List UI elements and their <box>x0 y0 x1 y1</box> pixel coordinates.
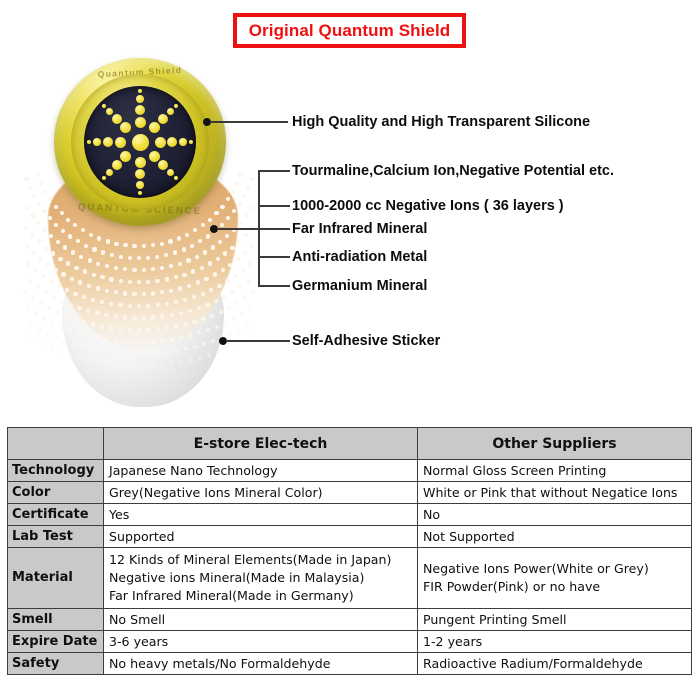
ion-dot <box>73 317 77 321</box>
ion-dot <box>193 345 197 349</box>
ion-dot <box>37 202 41 206</box>
star-arm-dot <box>158 114 168 124</box>
disc-face <box>84 86 196 198</box>
ion-dot <box>201 292 205 296</box>
ion-dot <box>86 358 90 362</box>
page-title: Original Quantum Shield <box>249 21 451 41</box>
ion-dot <box>128 328 132 332</box>
row-header-technology: Technology <box>8 460 104 482</box>
ion-dot <box>79 255 83 259</box>
ion-dot <box>238 221 242 225</box>
ion-dot <box>222 295 226 299</box>
ion-dot <box>58 350 62 354</box>
callout-leader-tourmaline <box>258 170 290 172</box>
callout-label-sticker: Self-Adhesive Sticker <box>292 334 440 349</box>
ion-dot <box>114 242 118 246</box>
star-arm-dot <box>103 137 113 147</box>
ion-dot <box>95 311 99 315</box>
ion-dot <box>41 274 45 278</box>
ion-dot <box>228 332 232 336</box>
ion-dot <box>61 229 65 233</box>
callout-label-negative-ions: 1000-2000 cc Negative Ions ( 36 layers ) <box>292 199 564 214</box>
ion-dot <box>160 290 164 294</box>
ion-dot <box>151 315 155 319</box>
star-arm-dot <box>106 169 114 177</box>
ion-dot <box>24 334 28 338</box>
ion-dot <box>76 239 80 243</box>
ion-dot <box>39 182 43 186</box>
star-arm-dot <box>135 169 145 179</box>
ion-dot <box>106 239 110 243</box>
ion-dot <box>225 279 229 283</box>
cell-other-smell: Pungent Printing Smell <box>418 608 692 630</box>
ion-dot <box>36 221 40 225</box>
ion-dot <box>132 268 136 272</box>
ion-dot <box>118 303 122 307</box>
ion-dot <box>51 321 55 325</box>
ion-dot <box>114 339 118 343</box>
table-row: Expire Date 3-6 years 1-2 years <box>8 630 692 652</box>
ion-dot <box>76 356 80 360</box>
ion-dot <box>23 291 27 295</box>
ion-dot <box>202 342 206 346</box>
ion-dot <box>160 242 164 246</box>
star-arm-dot <box>149 151 160 162</box>
ion-dot <box>71 250 75 254</box>
ion-dot <box>219 310 223 314</box>
ion-dot <box>192 320 196 324</box>
ion-dot <box>161 363 165 367</box>
ion-dot <box>68 234 72 238</box>
ion-dot <box>73 223 77 227</box>
star-arm-dot <box>189 140 194 145</box>
ion-dot <box>118 351 122 355</box>
ion-dot <box>207 353 211 357</box>
row-header-safety: Safety <box>8 652 104 674</box>
ion-dot <box>38 257 42 261</box>
ion-dot <box>114 290 118 294</box>
ion-dot <box>174 275 178 279</box>
ion-dot <box>105 289 109 293</box>
ion-dot <box>132 316 136 320</box>
ion-dot <box>251 291 255 295</box>
row-header-material: Material <box>8 548 104 609</box>
ion-dot <box>83 269 87 273</box>
ion-dot <box>146 304 150 308</box>
ion-dot <box>201 223 205 227</box>
ion-dot <box>50 347 54 351</box>
ion-dot <box>192 295 196 299</box>
ion-dot <box>88 258 92 262</box>
ion-dot <box>101 250 105 254</box>
ion-dot <box>237 328 241 332</box>
cell-estore-certificate: Yes <box>104 504 418 526</box>
star-arm-dot <box>120 151 131 162</box>
ion-dot <box>225 234 229 238</box>
ion-dot <box>119 279 123 283</box>
ion-dot <box>146 352 150 356</box>
ion-dot <box>60 299 64 303</box>
ion-dot <box>55 310 59 314</box>
ion-dot <box>95 336 99 340</box>
ion-dot <box>47 306 51 310</box>
ion-dot <box>246 186 250 190</box>
ion-dot <box>228 263 232 267</box>
star-arm-dot <box>138 89 143 94</box>
ion-dot <box>183 298 187 302</box>
ion-dot <box>25 206 29 210</box>
star-arm-dot <box>174 176 179 181</box>
ion-dot <box>92 273 96 277</box>
ion-dot <box>156 303 160 307</box>
table-row: Material 12 Kinds of Mineral Elements(Ma… <box>8 548 692 609</box>
ion-dot <box>72 342 76 346</box>
ion-dot <box>178 262 182 266</box>
ion-dot <box>123 243 127 247</box>
ion-dot <box>30 214 34 218</box>
column-header-other: Other Suppliers <box>418 428 692 460</box>
ion-dot <box>31 296 35 300</box>
ion-dot <box>217 284 221 288</box>
column-header-estore: E-store Elec-tech <box>104 428 418 460</box>
callout-label-anti-radiation: Anti-radiation Metal <box>292 250 427 265</box>
ion-dot <box>174 324 178 328</box>
ion-dot <box>89 233 93 237</box>
star-arm-dot <box>167 169 175 177</box>
ion-dot <box>137 304 141 308</box>
ion-dot <box>66 218 70 222</box>
ion-dot <box>109 277 113 281</box>
callout-leader-anti-radiation <box>258 256 290 258</box>
ion-dot <box>105 264 109 268</box>
ion-dot <box>77 306 81 310</box>
ion-dot <box>232 317 236 321</box>
star-arm-dot <box>115 137 126 148</box>
table-row: Lab Test Supported Not Supported <box>8 526 692 548</box>
ion-dot <box>221 268 225 272</box>
ion-dot <box>37 328 41 332</box>
ion-dot <box>123 364 127 368</box>
ion-dot <box>86 309 90 313</box>
ion-dot <box>109 302 113 306</box>
ion-dot <box>233 343 237 347</box>
ion-dot <box>26 307 30 311</box>
ion-dot <box>104 337 108 341</box>
ion-dot <box>243 296 247 300</box>
ion-dot <box>58 257 62 261</box>
ion-dot <box>49 234 53 238</box>
ion-dot <box>155 279 159 283</box>
star-arm-dot <box>155 137 166 148</box>
star-arm-dot <box>135 105 145 115</box>
ion-dot <box>226 197 230 201</box>
ion-dot <box>39 301 43 305</box>
callout-leader-far-infrared <box>217 228 290 230</box>
ion-dot <box>216 257 220 261</box>
star-arm-dot <box>102 104 107 109</box>
gold-inner-ring <box>71 74 209 210</box>
cell-line: FIR Powder(Pink) or no have <box>423 578 686 596</box>
ion-dot <box>190 244 194 248</box>
ion-dot <box>104 362 108 366</box>
cell-other-expire-date: 1-2 years <box>418 630 692 652</box>
star-arm-dot <box>93 138 101 146</box>
ion-dot <box>69 303 73 307</box>
ion-dot <box>197 306 201 310</box>
ion-dot <box>236 257 240 261</box>
ion-dot <box>56 240 60 244</box>
star-arm-dot <box>149 122 160 133</box>
ion-dot <box>249 206 253 210</box>
ion-dot <box>42 228 46 232</box>
ion-dot <box>215 325 219 329</box>
ion-dot <box>33 339 37 343</box>
ion-dot <box>151 364 155 368</box>
table-row: Technology Japanese Nano Technology Norm… <box>8 460 692 482</box>
ion-dot <box>174 300 178 304</box>
ion-dot <box>201 317 205 321</box>
ion-dot <box>30 233 34 237</box>
ion-dot <box>48 216 52 220</box>
ion-dot <box>248 262 252 266</box>
ion-dot <box>28 279 32 283</box>
product-illustration: Quantum Shield QUANTUM·SCIENCE <box>14 52 254 372</box>
ion-dot <box>128 256 132 260</box>
ion-dot <box>43 190 47 194</box>
ion-dot <box>146 256 150 260</box>
ion-dot <box>230 246 234 250</box>
ion-dot <box>208 261 212 265</box>
table-row: Safety No heavy metals/No Formaldehyde R… <box>8 652 692 674</box>
row-header-certificate: Certificate <box>8 504 104 526</box>
ion-dot <box>34 312 38 316</box>
ion-dot <box>169 264 173 268</box>
ion-dot <box>42 209 46 213</box>
star-center-dot <box>132 134 149 151</box>
star-arm-dot <box>102 176 107 181</box>
cell-other-technology: Normal Gloss Screen Printing <box>418 460 692 482</box>
callout-leader-germanium <box>258 285 290 287</box>
ion-dot <box>137 256 141 260</box>
ion-dot <box>132 364 136 368</box>
ion-dot <box>160 266 164 270</box>
ion-dot <box>97 236 101 240</box>
cell-line: Negative Ions Power(White or Grey) <box>423 560 686 578</box>
ion-dot <box>100 300 104 304</box>
ion-dot <box>54 336 58 340</box>
gold-silicone-disc: Quantum Shield QUANTUM·SCIENCE <box>54 58 226 226</box>
ion-dot <box>210 314 214 318</box>
ion-dot <box>51 251 55 255</box>
ion-dot <box>169 289 173 293</box>
ion-dot <box>198 356 202 360</box>
ion-dot <box>223 251 227 255</box>
ion-dot <box>96 286 100 290</box>
ion-dot <box>48 197 52 201</box>
star-arm-dot <box>136 181 144 189</box>
ion-dot <box>28 186 32 190</box>
ion-dot <box>238 285 242 289</box>
ion-dot <box>156 351 160 355</box>
ion-dot <box>123 291 127 295</box>
ion-dot <box>218 240 222 244</box>
ion-dot <box>104 313 108 317</box>
ion-dot <box>95 360 99 364</box>
ion-dot <box>132 340 136 344</box>
ion-dot <box>235 301 239 305</box>
ion-dot <box>179 360 183 364</box>
ion-dot <box>63 339 67 343</box>
ion-dot <box>244 233 248 237</box>
ion-dot <box>44 290 48 294</box>
table-header-row: E-store Elec-tech Other Suppliers <box>8 428 692 460</box>
ion-dot <box>193 228 197 232</box>
ion-dot <box>100 324 104 328</box>
star-arm-dot <box>136 95 144 103</box>
ion-dot <box>142 292 146 296</box>
ion-dot <box>156 327 160 331</box>
ion-dot <box>146 280 150 284</box>
ion-dot <box>63 245 67 249</box>
ion-dot <box>128 280 132 284</box>
ion-dot <box>146 328 150 332</box>
title-banner: Original Quantum Shield <box>233 13 466 48</box>
ion-dot <box>197 331 201 335</box>
ion-dot <box>142 268 146 272</box>
ion-dot <box>42 317 46 321</box>
star-arm-dot <box>167 108 175 116</box>
star-arm-dot <box>174 104 179 109</box>
ion-dot <box>204 277 208 281</box>
ion-dot <box>185 233 189 237</box>
ion-dot <box>170 362 174 366</box>
ion-dot <box>238 173 242 177</box>
ion-dot <box>25 244 29 248</box>
ion-dot <box>242 194 246 198</box>
ion-dot <box>36 173 40 177</box>
ion-dot <box>232 209 236 213</box>
cell-line: 12 Kinds of Mineral Elements(Made in Jap… <box>109 551 412 569</box>
cell-other-safety: Radioactive Radium/Formaldehyde <box>418 652 692 674</box>
ion-dot <box>82 295 86 299</box>
ion-dot <box>113 363 117 367</box>
ion-dot <box>24 226 28 230</box>
ion-dot <box>230 290 234 294</box>
ion-dot <box>123 340 127 344</box>
ion-dot <box>182 273 186 277</box>
ion-dot <box>53 268 57 272</box>
ion-dot <box>24 177 28 181</box>
ion-dot <box>37 239 41 243</box>
ion-dot <box>223 321 227 325</box>
ion-dot <box>220 223 224 227</box>
ion-dot <box>128 304 132 308</box>
ion-dot <box>64 314 68 318</box>
ion-dot <box>178 286 182 290</box>
cell-estore-color: Grey(Negative Ions Mineral Color) <box>104 482 418 504</box>
callout-label-silicone: High Quality and High Transparent Silico… <box>292 115 590 130</box>
ion-dot <box>227 306 231 310</box>
ion-dot <box>245 323 249 327</box>
ion-dot <box>100 275 104 279</box>
ion-dot <box>200 266 204 270</box>
ion-dot <box>137 280 141 284</box>
ion-dot <box>132 292 136 296</box>
ion-dot <box>165 350 169 354</box>
ion-dot <box>36 285 40 289</box>
ion-dot <box>90 347 94 351</box>
ion-dot <box>46 332 50 336</box>
ion-dot <box>128 352 132 356</box>
ion-dot <box>82 320 86 324</box>
ion-dot <box>73 292 77 296</box>
ion-dot <box>29 323 33 327</box>
ion-dot <box>237 202 241 206</box>
comparison-table: E-store Elec-tech Other Suppliers Techno… <box>7 427 692 675</box>
ion-dot <box>233 274 237 278</box>
ion-dot <box>118 327 122 331</box>
ion-dot <box>123 267 127 271</box>
ion-dot <box>213 272 217 276</box>
ion-dot <box>170 313 174 317</box>
callout-label-far-infrared: Far Infrared Mineral <box>292 222 427 237</box>
ion-dot <box>81 228 85 232</box>
ion-dot <box>74 266 78 270</box>
ion-dot <box>65 288 69 292</box>
ion-dot <box>109 350 113 354</box>
ion-dot <box>246 279 250 283</box>
ion-dot <box>81 345 85 349</box>
ion-dot <box>137 328 141 332</box>
ion-dot <box>151 243 155 247</box>
ion-dot <box>165 302 169 306</box>
table-row: Certificate Yes No <box>8 504 692 526</box>
ion-dot <box>26 262 30 266</box>
cell-estore-safety: No heavy metals/No Formaldehyde <box>104 652 418 674</box>
star-arm-dot <box>179 138 187 146</box>
cell-line: Negative ions Mineral(Made in Malaysia) <box>109 569 412 587</box>
ion-dot <box>243 251 247 255</box>
ion-dot <box>160 314 164 318</box>
ion-dot <box>165 326 169 330</box>
ion-dot <box>188 333 192 337</box>
callout-label-germanium: Germanium Mineral <box>292 279 427 294</box>
ion-dot <box>244 214 248 218</box>
ion-dot <box>132 244 136 248</box>
ion-dot <box>165 277 169 281</box>
ion-dot <box>31 251 35 255</box>
ion-dot <box>78 280 82 284</box>
star-arm-dot <box>138 191 143 196</box>
ion-dot <box>142 244 146 248</box>
ion-dot <box>182 247 186 251</box>
ion-dot <box>110 253 114 257</box>
ion-dot <box>87 284 91 288</box>
row-header-color: Color <box>8 482 104 504</box>
ion-dot <box>91 322 95 326</box>
table-row: Color Grey(Negative Ions Mineral Color) … <box>8 482 692 504</box>
ion-dot <box>137 352 141 356</box>
ion-dot <box>187 284 191 288</box>
ion-dot <box>186 258 190 262</box>
ion-dot <box>61 272 65 276</box>
ion-dot <box>57 284 61 288</box>
ion-dot <box>249 244 253 248</box>
cell-estore-material: 12 Kinds of Mineral Elements(Made in Jap… <box>104 548 418 609</box>
ion-dot <box>208 218 212 222</box>
star-arm-dot <box>135 157 146 168</box>
ion-dot <box>151 291 155 295</box>
